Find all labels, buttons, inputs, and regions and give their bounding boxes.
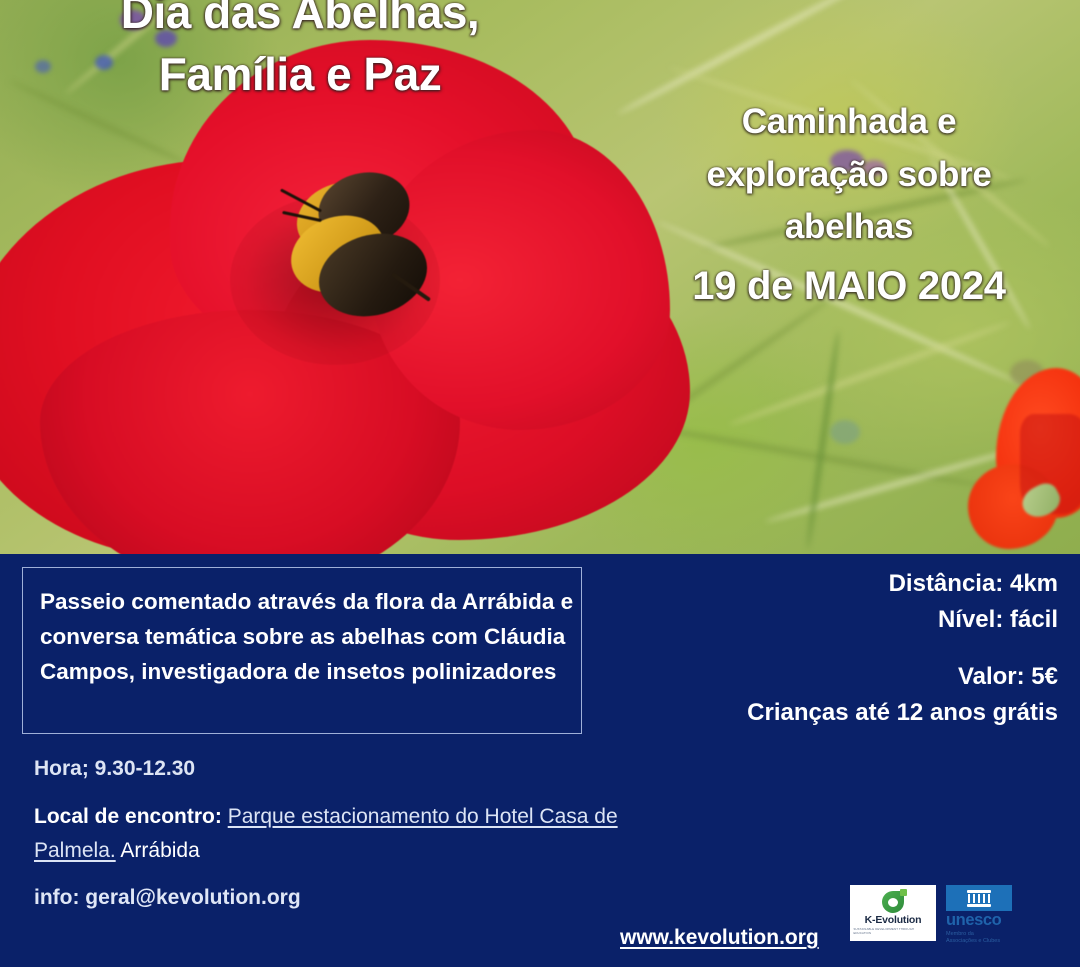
kevolution-name: K-Evolution bbox=[865, 914, 922, 926]
description-text: Passeio comentado através da flora da Ar… bbox=[40, 585, 585, 690]
subtitle-line-3: abelhas bbox=[785, 207, 913, 246]
local-suffix: Arrábida bbox=[120, 839, 199, 862]
children-free-text: Crianças até 12 anos grátis bbox=[747, 699, 1058, 726]
hora-text: Hora; 9.30-12.30 bbox=[34, 757, 195, 780]
event-details-column: Distância: 4km Nível: fácil Valor: 5€ Cr… bbox=[658, 566, 1058, 730]
hero-photo: Dia das Abelhas, Família e Paz Caminhada… bbox=[0, 0, 1080, 554]
event-poster: Dia das Abelhas, Família e Paz Caminhada… bbox=[0, 0, 1080, 967]
details-spacer bbox=[658, 637, 1058, 659]
title-line-1: Dia das Abelhas, bbox=[121, 0, 479, 38]
local-label: Local de encontro: bbox=[34, 805, 222, 828]
unesco-emblem-box bbox=[946, 885, 1012, 911]
kevolution-tagline: SUSTAINABLE DEVELOPMENT THROUGH EDUCATIO… bbox=[853, 927, 932, 934]
bumblebee bbox=[278, 155, 458, 320]
meta-details: Hora; 9.30-12.30 Local de encontro: Parq… bbox=[34, 752, 634, 882]
poster-subtitle: Caminhada e exploração sobre abelhas 19 … bbox=[634, 96, 1064, 316]
unesco-tagline: Membro da Associações e Clubes bbox=[946, 931, 1024, 946]
subtitle-line-2: exploração sobre bbox=[706, 155, 991, 194]
unesco-temple-icon bbox=[967, 890, 991, 907]
kevolution-leaf-icon bbox=[882, 891, 904, 913]
local-row: Local de encontro: Parque estacionamento… bbox=[34, 800, 634, 868]
price-text: Valor: 5€ bbox=[958, 663, 1058, 690]
info-panel: Passeio comentado através da flora da Ar… bbox=[0, 554, 1080, 967]
unesco-tagline-line-2: Associações e Clubes bbox=[946, 938, 1000, 944]
event-date: 19 de MAIO 2024 bbox=[634, 256, 1064, 316]
unesco-logo[interactable]: unesco Membro da Associações e Clubes bbox=[946, 885, 1024, 943]
level-text: Nível: fácil bbox=[938, 606, 1058, 633]
secondary-poppy bbox=[968, 368, 1080, 554]
poster-title: Dia das Abelhas, Família e Paz bbox=[0, 0, 600, 102]
logo-row: K-Evolution SUSTAINABLE DEVELOPMENT THRO… bbox=[850, 885, 1065, 947]
contact-info[interactable]: info: geral@kevolution.org bbox=[34, 886, 301, 910]
unesco-wordmark: unesco bbox=[946, 912, 1024, 929]
hora-row: Hora; 9.30-12.30 bbox=[34, 752, 634, 786]
website-link[interactable]: www.kevolution.org bbox=[620, 926, 819, 950]
title-line-2: Família e Paz bbox=[0, 46, 600, 102]
unesco-tagline-line-1: Membro da bbox=[946, 931, 974, 937]
subtitle-line-1: Caminhada e bbox=[742, 102, 957, 141]
distance-text: Distância: 4km bbox=[889, 570, 1058, 597]
kevolution-logo[interactable]: K-Evolution SUSTAINABLE DEVELOPMENT THRO… bbox=[850, 885, 936, 941]
